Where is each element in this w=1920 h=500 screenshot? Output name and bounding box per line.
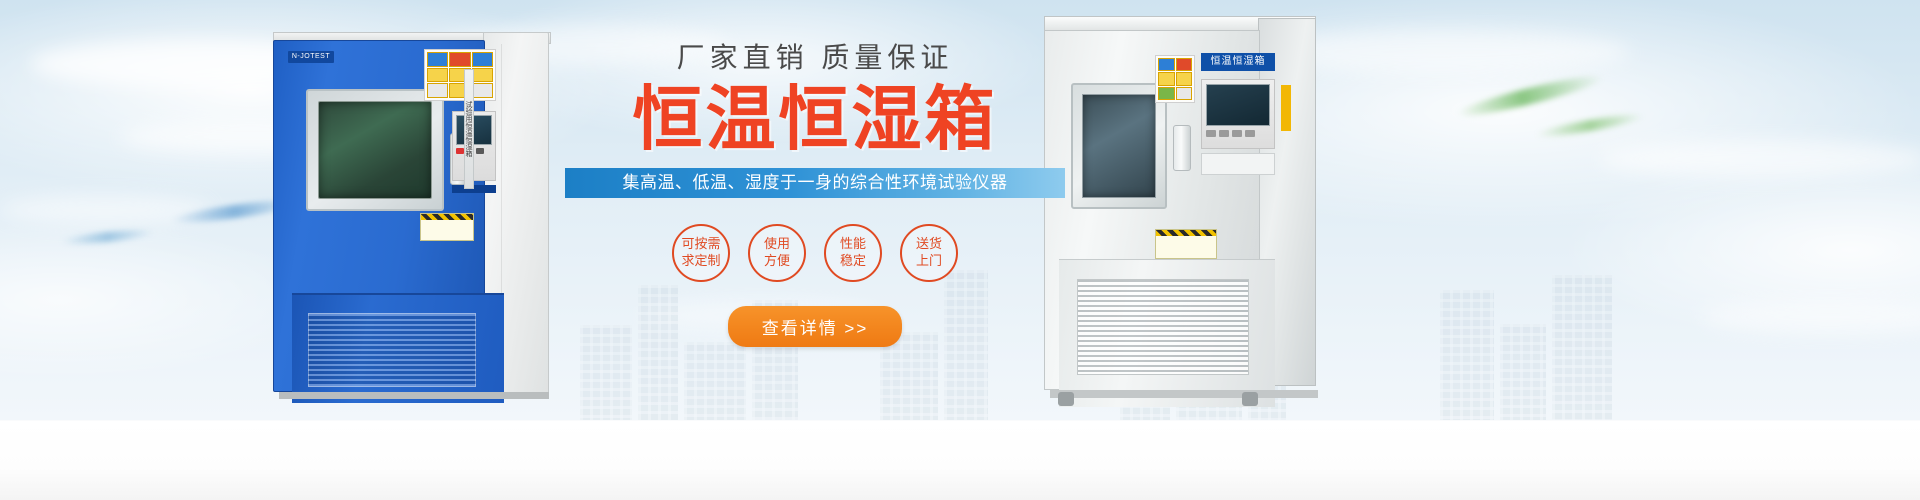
feature-line-2: 稳定 (840, 253, 866, 269)
marketing-copy-block: 厂家直销 质量保证 恒温恒湿箱 集高温、低温、湿度于一身的综合性环境试验仪器 可… (565, 44, 1065, 384)
controller-screen (456, 115, 492, 145)
ventilation-grille (1077, 279, 1249, 375)
feature-badge-custom[interactable]: 可按需 求定制 (672, 224, 730, 282)
indicator-leds (456, 148, 492, 154)
product-image-left-chamber: N-JOTEST 试验用恒温恒湿箱 (255, 30, 555, 402)
product-name-plate: 恒温恒湿箱 (1201, 53, 1275, 71)
headline-title: 恒温恒湿箱 (565, 82, 1065, 158)
manufacturer-strip (452, 185, 496, 193)
machine-feet (1050, 390, 1318, 398)
subtitle-bar: 集高温、低温、湿度于一身的综合性环境试验仪器 (565, 168, 1065, 198)
feature-line-1: 使用 (764, 236, 790, 252)
caution-plate (420, 213, 474, 241)
caster-wheel (1242, 392, 1258, 406)
kicker-text: 厂家直销 质量保证 (565, 44, 1065, 72)
product-image-right-chamber: 恒温恒湿箱 (1030, 14, 1320, 396)
warning-sticker-grid (1155, 55, 1195, 103)
chamber-body: N-JOTEST 试验用恒温恒湿箱 (273, 40, 485, 392)
feature-badge-delivery[interactable]: 送货 上门 (900, 224, 958, 282)
control-panel (1201, 79, 1275, 149)
feature-badges: 可按需 求定制 使用 方便 性能 稳定 送货 上门 (565, 224, 1065, 282)
controller-screen (1206, 84, 1270, 126)
feature-line-1: 可按需 (681, 236, 720, 252)
manufacturer-plate (1201, 153, 1275, 175)
cloud-wisp-icon (1600, 140, 1920, 178)
side-name-plate: 试验用恒温恒湿箱 (464, 69, 474, 189)
caution-plate (1155, 229, 1217, 259)
chamber-body: 恒温恒湿箱 (1044, 30, 1260, 390)
machine-feet (279, 392, 549, 399)
promo-banner: N-JOTEST 试验用恒温恒湿箱 (0, 0, 1920, 500)
warning-sticker-grid (424, 49, 496, 101)
caster-wheel (1058, 392, 1074, 406)
viewing-window (1082, 94, 1156, 198)
yellow-accent-strip (1281, 85, 1291, 131)
viewing-window (318, 101, 432, 199)
chamber-door (1071, 83, 1167, 209)
feature-line-2: 方便 (764, 253, 790, 269)
feature-line-2: 求定制 (681, 253, 720, 269)
cta-container: 查看详情 >> (565, 306, 1065, 347)
feature-line-1: 送货 (916, 236, 942, 252)
feature-line-2: 上门 (916, 253, 942, 269)
door-handle (1173, 125, 1191, 171)
feature-line-1: 性能 (840, 236, 866, 252)
feature-badge-easy-use[interactable]: 使用 方便 (748, 224, 806, 282)
control-panel (452, 111, 496, 181)
ground-strip (0, 422, 1920, 500)
brand-label: N-JOTEST (288, 51, 334, 63)
chamber-door (306, 89, 444, 211)
control-buttons (1206, 130, 1270, 137)
ventilation-grille (308, 313, 476, 387)
view-details-button[interactable]: 查看详情 >> (728, 306, 903, 347)
feature-badge-stable[interactable]: 性能 稳定 (824, 224, 882, 282)
